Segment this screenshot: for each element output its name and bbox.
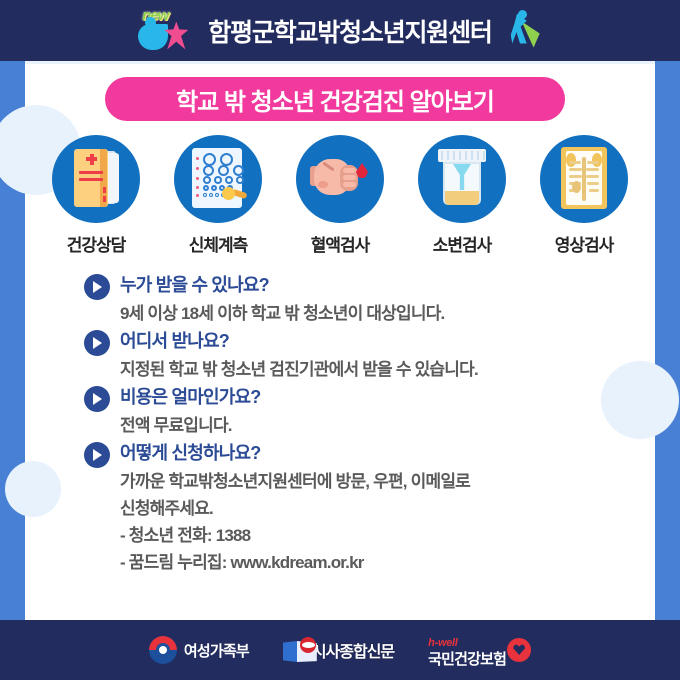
- play-bullet-icon: [84, 274, 110, 300]
- checkup-item-imaging-test: 영상검사: [528, 135, 640, 256]
- checkup-item-label: 소변검사: [406, 231, 518, 256]
- faq-question: 누가 받을 수 있나요?: [120, 272, 269, 298]
- page-title-banner: 학교 밖 청소년 건강검진 알아보기: [105, 77, 565, 121]
- heart-circle-icon: [507, 638, 531, 662]
- medical-record-book-icon: [52, 135, 140, 223]
- faq-answer-phone: - 청소년 전화: 1388: [120, 522, 604, 549]
- chest-xray-icon: [540, 135, 628, 223]
- taegeuk-icon: [149, 636, 177, 664]
- faq-question: 어떻게 신청하나요?: [120, 440, 260, 466]
- checkup-item-blood-test: 혈액검사: [284, 135, 396, 256]
- checkup-item-urine-test: 소변검사: [406, 135, 518, 256]
- blood-test-hand-icon: [296, 135, 384, 223]
- checkup-item-body-measure: 신체계측: [162, 135, 274, 256]
- play-bullet-icon: [84, 386, 110, 412]
- open-book-icon: [283, 637, 317, 663]
- footer-logo-label: 국민건강보험: [428, 652, 506, 667]
- faq-answer: 지정된 학교 밖 청소년 검진기관에서 받을 수 있습니다.: [120, 356, 604, 383]
- faq-section: 누가 받을 수 있나요? 9세 이상 18세 이하 학교 밖 청소년이 대상입니…: [84, 272, 604, 577]
- faq-answer: 전액 무료입니다.: [120, 412, 604, 439]
- brand-title: 함평군학교밖청소년지원센터: [208, 13, 491, 49]
- faq-item: 누가 받을 수 있나요? 9세 이상 18세 이하 학교 밖 청소년이 대상입니…: [84, 272, 604, 327]
- faq-item: 비용은 얼마인가요? 전액 무료입니다.: [84, 384, 604, 439]
- faq-answer: 9세 이상 18세 이하 학교 밖 청소년이 대상입니다.: [120, 300, 604, 327]
- poster-root: new 함평군학교밖청소년지원센터 학교 밖 청소년 건강검진 알아보기: [0, 0, 680, 680]
- faq-answer-website: - 꿈드림 누리집: www.kdream.or.kr: [120, 549, 604, 576]
- logo-blue-figure-icon: [138, 24, 168, 50]
- play-bullet-icon: [84, 442, 110, 468]
- footer-logo-mogef: 여성가족부: [149, 636, 249, 664]
- faq-item: 어디서 받나요? 지정된 학교 밖 청소년 검진기관에서 받을 수 있습니다.: [84, 328, 604, 383]
- faq-question: 비용은 얼마인가요?: [120, 384, 260, 410]
- running-person-icon: [498, 8, 544, 54]
- faq-answer-line: 신청해주세요.: [120, 495, 604, 522]
- checkup-item-label: 신체계측: [162, 231, 274, 256]
- footer-logo-newspaper: 시사종합신문: [283, 637, 394, 663]
- decorative-circle: [5, 461, 61, 517]
- faq-answer: 가까운 학교밖청소년지원센터에 방문, 우편, 이메일로 신청해주세요. - 청…: [120, 468, 604, 576]
- checkup-item-label: 혈액검사: [284, 231, 396, 256]
- footer-logo-label: 여성가족부: [184, 640, 249, 661]
- checkup-item-health-consult: 건강상담: [40, 135, 152, 256]
- faq-answer-line: 가까운 학교밖청소년지원센터에 방문, 우편, 이메일로: [120, 468, 604, 495]
- checkup-item-label: 영상검사: [528, 231, 640, 256]
- eye-chart-icon: [174, 135, 262, 223]
- footer-logo-nhis: h-well 국민건강보험: [428, 634, 531, 667]
- faq-item: 어떻게 신청하나요? 가까운 학교밖청소년지원센터에 방문, 우편, 이메일로 …: [84, 440, 604, 576]
- footer-logo-label: 시사종합신문: [312, 638, 394, 662]
- footer-bar: 여성가족부 시사종합신문 h-well 국민건강보험: [0, 620, 680, 680]
- decorative-circle: [601, 361, 679, 439]
- faq-question: 어디서 받나요?: [120, 328, 229, 354]
- page-title: 학교 밖 청소년 건강검진 알아보기: [176, 82, 494, 117]
- header-bar: new 함평군학교밖청소년지원센터: [0, 0, 680, 61]
- checkup-item-label: 건강상담: [40, 231, 152, 256]
- urine-sample-cup-icon: [418, 135, 506, 223]
- center-logo-icon: new: [136, 8, 202, 54]
- checkup-items-row: 건강상담: [40, 135, 640, 255]
- hwell-subtitle: h-well: [428, 637, 457, 649]
- play-bullet-icon: [84, 330, 110, 356]
